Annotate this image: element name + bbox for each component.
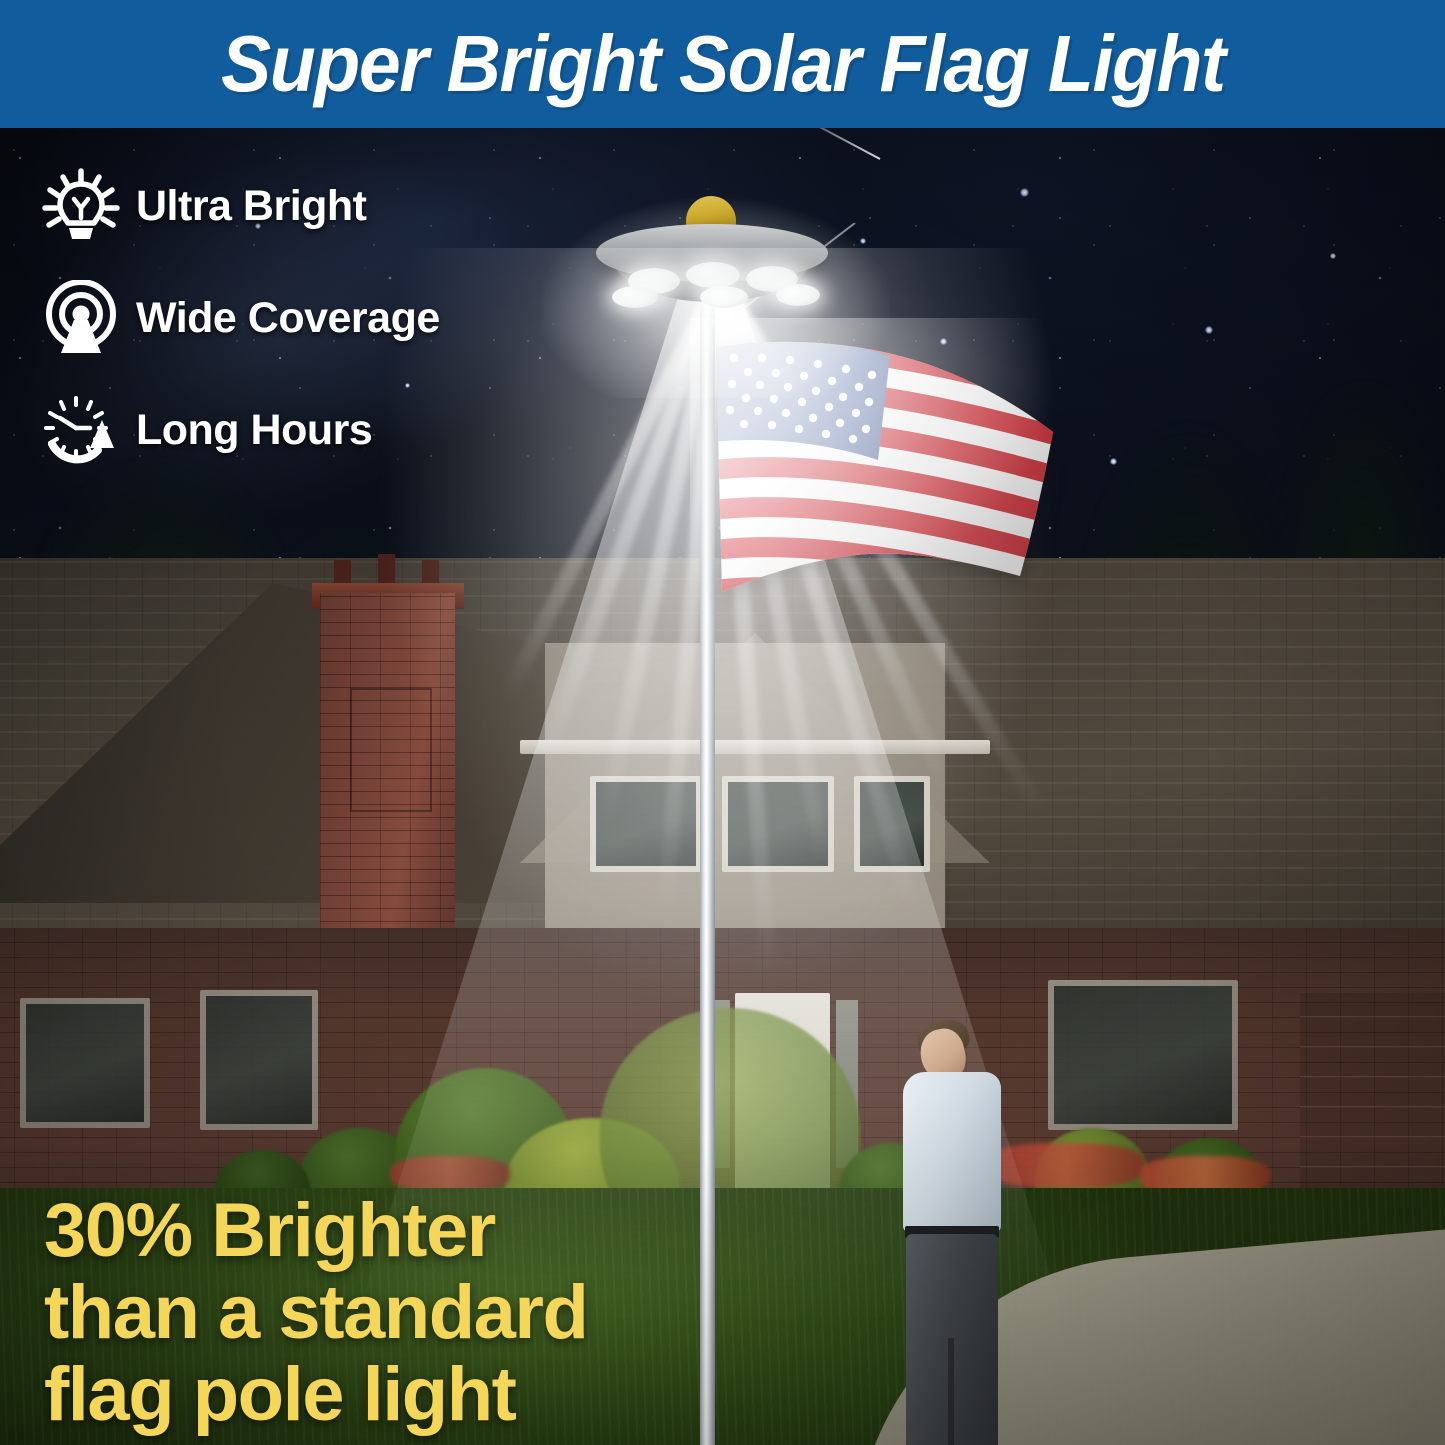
lightbulb-rays-icon	[38, 168, 124, 244]
upper-window	[590, 776, 702, 872]
chimney-recess-panel	[350, 688, 432, 812]
lower-window-left	[20, 998, 150, 1128]
flower-bed	[985, 1143, 1145, 1188]
product-marketing-image: Super Bright Solar Flag Light	[0, 0, 1445, 1445]
upper-window	[722, 776, 834, 872]
led-panel	[612, 286, 658, 308]
feature-item-ultra-bright: Ultra Bright	[38, 168, 558, 244]
header-banner: Super Bright Solar Flag Light	[0, 0, 1445, 128]
feature-list: Ultra Bright Wide Coverage	[38, 168, 558, 504]
person-shirt	[903, 1072, 1001, 1232]
american-flag	[712, 340, 1057, 610]
lower-window-porch	[1048, 980, 1238, 1130]
promo-line-1: 30% Brighter	[44, 1190, 804, 1272]
feature-item-wide-coverage: Wide Coverage	[38, 280, 558, 356]
led-panel	[686, 262, 740, 288]
person-leg-seam	[948, 1338, 954, 1445]
wide-coverage-beam-icon	[38, 280, 124, 356]
led-panel	[700, 286, 748, 308]
promo-line-3: flag pole light	[44, 1354, 804, 1436]
page-title: Super Bright Solar Flag Light	[221, 18, 1225, 110]
feature-label: Wide Coverage	[136, 294, 440, 343]
clock-arrow-icon	[38, 392, 124, 468]
feature-item-long-hours: Long Hours	[38, 392, 558, 468]
bright-star	[1020, 188, 1029, 197]
upper-window	[854, 776, 930, 872]
led-panel	[776, 284, 820, 306]
feature-label: Long Hours	[136, 406, 372, 455]
lower-window-left-2	[200, 990, 318, 1130]
promo-headline: 30% Brighter than a standard flag pole l…	[44, 1190, 804, 1436]
flower-bed	[390, 1156, 510, 1192]
chimney-pot	[378, 554, 395, 586]
roof-eave-upper	[520, 740, 990, 754]
feature-label: Ultra Bright	[136, 182, 367, 231]
promo-line-2: than a standard	[44, 1272, 804, 1354]
bright-star	[860, 238, 866, 244]
